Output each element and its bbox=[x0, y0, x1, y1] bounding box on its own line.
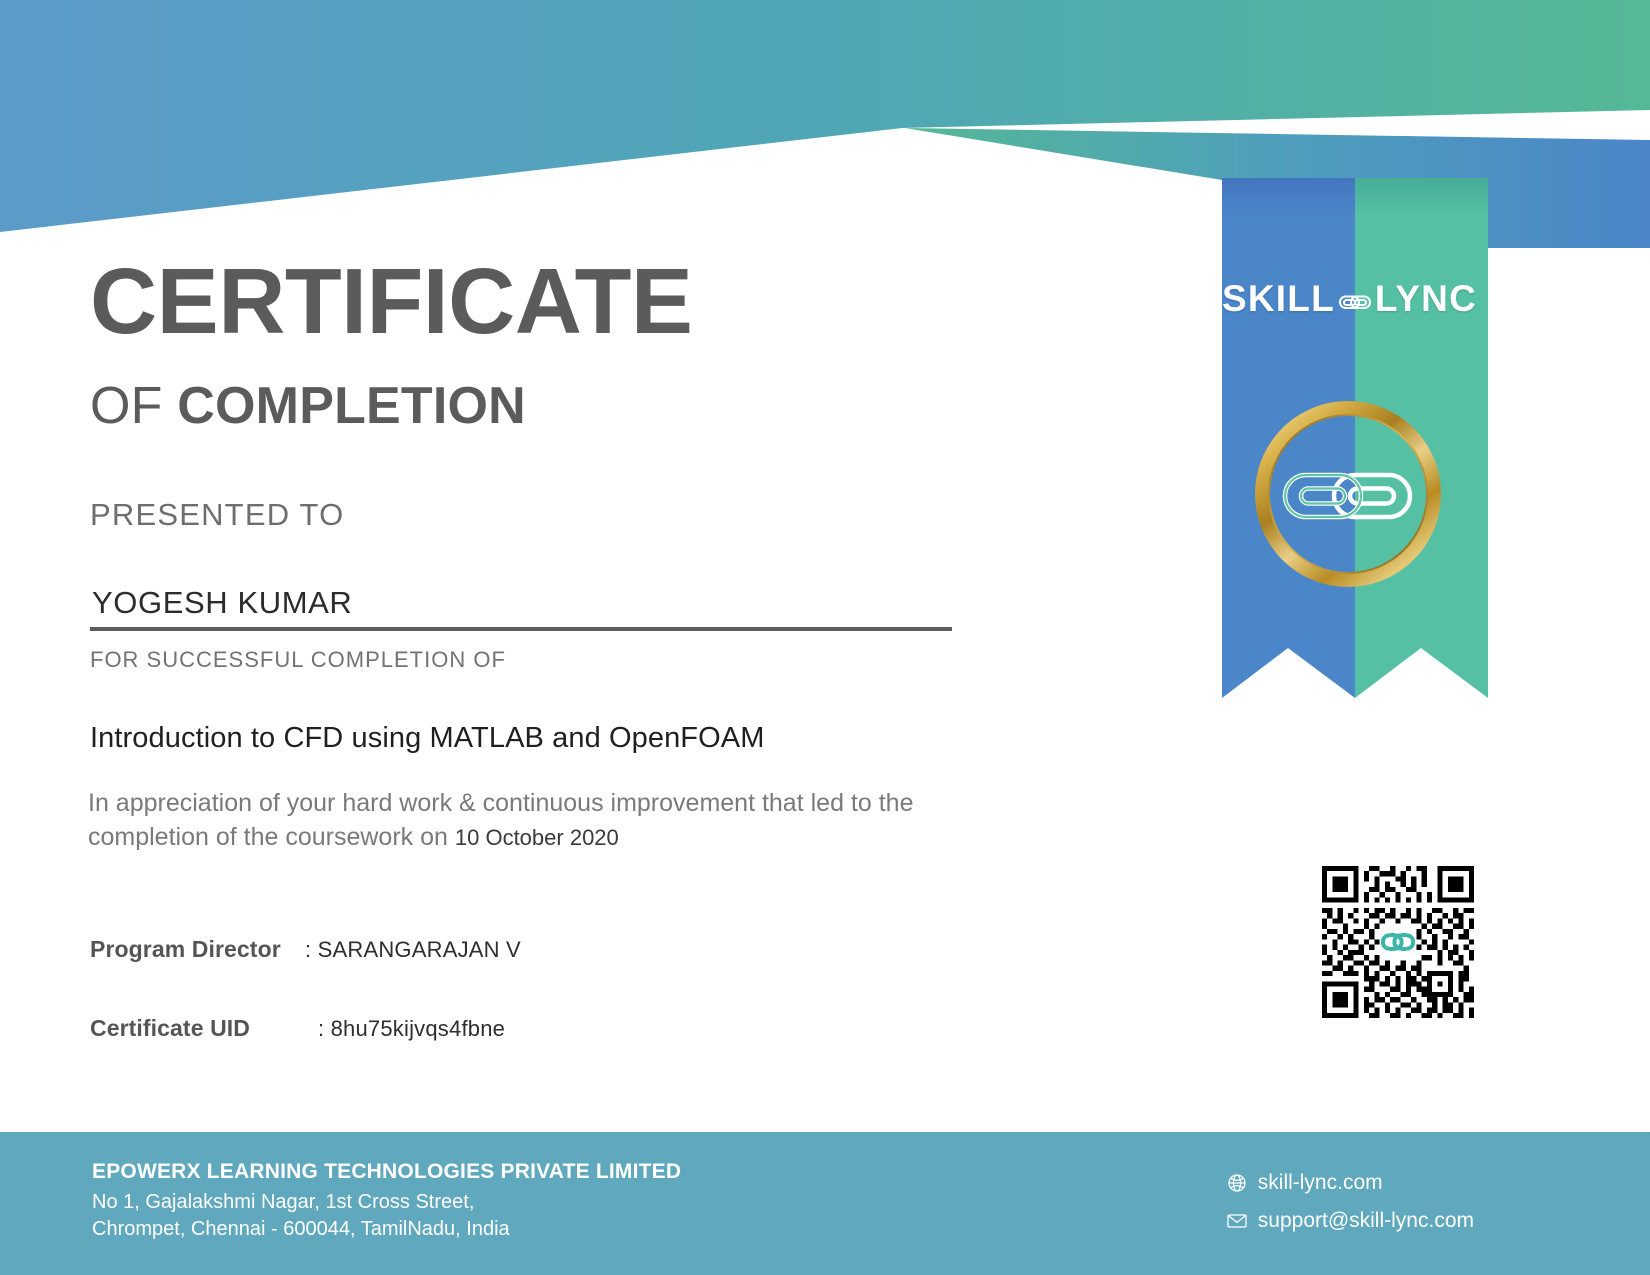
footer-company-name: EPOWERX LEARNING TECHNOLOGIES PRIVATE LI… bbox=[92, 1160, 681, 1184]
program-director-row: Program Director: SARANGARAJAN V bbox=[90, 936, 521, 963]
certificate-page: SKILL LYNC bbox=[0, 0, 1650, 1275]
footer-email-text: support@skill-lync.com bbox=[1258, 1202, 1474, 1240]
footer-address: No 1, Gajalakshmi Nagar, 1st Cross Stree… bbox=[92, 1189, 510, 1243]
certificate-uid-label: Certificate UID bbox=[90, 1015, 318, 1042]
brand-wordmark: SKILL LYNC bbox=[1222, 278, 1474, 322]
certificate-subtitle: OF COMPLETION bbox=[90, 380, 526, 432]
wordmark-skill: SKILL bbox=[1222, 278, 1335, 319]
footer-website-row[interactable]: skill-lync.com bbox=[1226, 1164, 1474, 1202]
wordmark-lync: LYNC bbox=[1375, 278, 1477, 319]
subtitle-completion: COMPLETION bbox=[177, 377, 526, 435]
footer-email-row[interactable]: support@skill-lync.com bbox=[1226, 1202, 1474, 1240]
qr-code-icon[interactable] bbox=[1322, 866, 1474, 1018]
program-director-value: : SARANGARAJAN V bbox=[305, 937, 521, 963]
footer-address-line-2: Chrompet, Chennai - 600044, TamilNadu, I… bbox=[92, 1216, 510, 1243]
appreciation-text: In appreciation of your hard work & cont… bbox=[88, 786, 918, 855]
gold-medallion-seal bbox=[1246, 392, 1450, 596]
certificate-uid-row: Certificate UID: 8hu75kijvqs4fbne bbox=[90, 1015, 505, 1042]
footer-website-text: skill-lync.com bbox=[1258, 1164, 1383, 1202]
program-director-label: Program Director bbox=[90, 936, 305, 963]
envelope-icon bbox=[1226, 1210, 1248, 1232]
globe-icon bbox=[1226, 1172, 1248, 1194]
recipient-name: YOGESH KUMAR bbox=[92, 585, 352, 621]
subtitle-of: OF bbox=[90, 377, 163, 435]
completion-date: 10 October 2020 bbox=[455, 825, 619, 850]
certificate-title: CERTIFICATE bbox=[90, 255, 692, 348]
presented-to-label: PRESENTED TO bbox=[90, 497, 344, 533]
appreciation-line-1: In appreciation of your hard work & cont… bbox=[88, 789, 872, 817]
footer-bar: EPOWERX LEARNING TECHNOLOGIES PRIVATE LI… bbox=[0, 1132, 1650, 1275]
footer-contact-block: skill-lync.com support@skill-lync.com bbox=[1226, 1164, 1474, 1240]
name-underline-rule bbox=[90, 627, 952, 631]
for-completion-label: FOR SUCCESSFUL COMPLETION OF bbox=[90, 647, 506, 673]
course-name: Introduction to CFD using MATLAB and Ope… bbox=[90, 722, 764, 755]
certificate-uid-value: : 8hu75kijvqs4fbne bbox=[318, 1016, 505, 1042]
footer-address-line-1: No 1, Gajalakshmi Nagar, 1st Cross Stree… bbox=[92, 1189, 510, 1216]
paperclip-link-icon bbox=[1338, 280, 1372, 322]
